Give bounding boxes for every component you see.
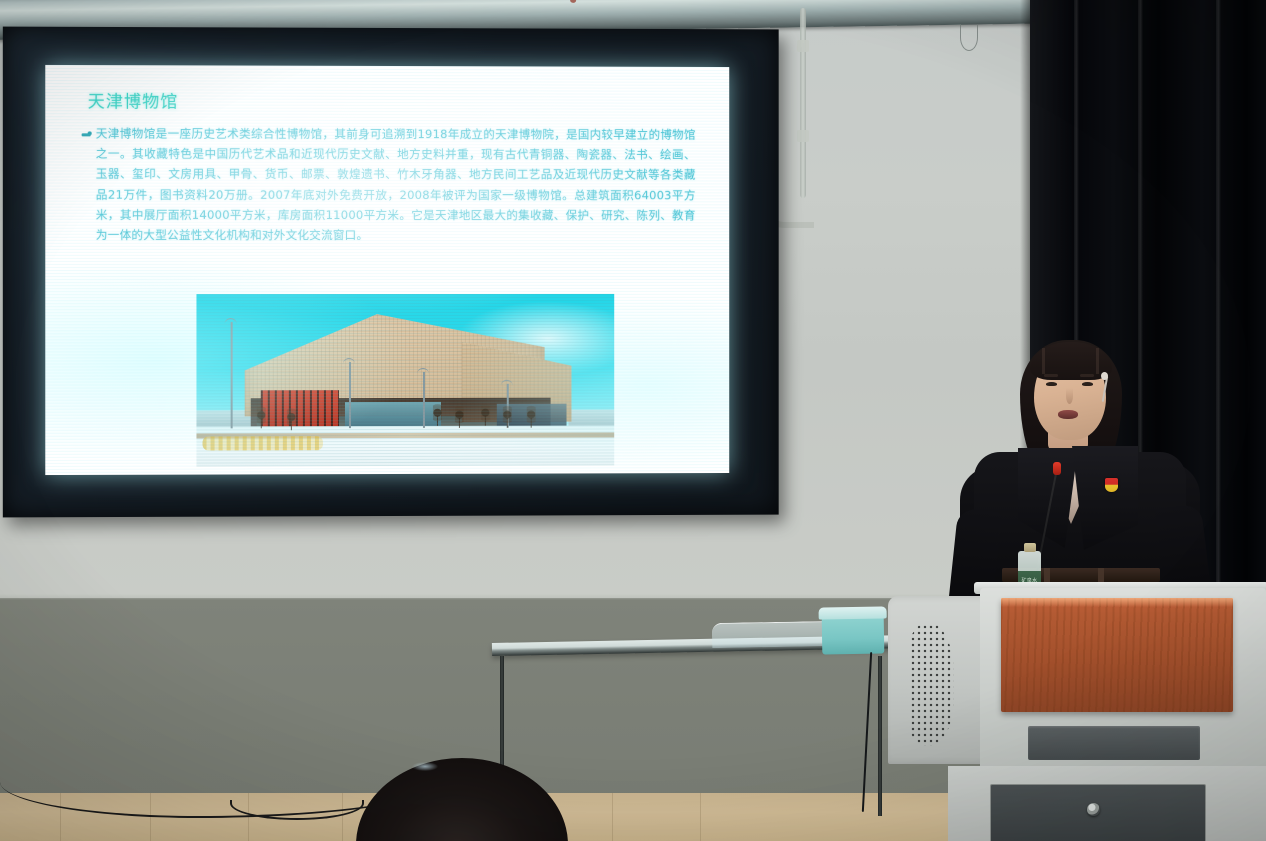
presenter-mouth: [1058, 410, 1078, 419]
side-table-leg-right: [878, 656, 882, 816]
teal-plastic-container: [822, 615, 885, 654]
conduit-coupler-upper: [797, 40, 809, 52]
lectern-cabinet[interactable]: [990, 784, 1206, 841]
dash-bullet-icon: [82, 133, 91, 136]
photo-dither-overlay: [196, 294, 614, 467]
lectern-podium[interactable]: [888, 588, 1266, 841]
teal-container-lid: [819, 606, 887, 619]
lectern-dark-strip: [1028, 726, 1200, 760]
wood-panel-highlight: [1001, 598, 1233, 607]
headset-microphone-earpiece: [1101, 372, 1108, 380]
slide-bullet-row: 天津博物馆是一座历史艺术类综合性博物馆，其前身可追溯到1918年成立的天津博物院…: [82, 123, 696, 245]
party-emblem-lapel-pin: [1105, 478, 1118, 492]
slide-body-text: 天津博物馆是一座历史艺术类综合性博物馆，其前身可追溯到1918年成立的天津博物院…: [82, 123, 696, 245]
belt-loop-right: [1098, 568, 1104, 582]
slide-body: 天津博物馆是一座历史艺术类综合性博物馆，其前身可追溯到1918年成立的天津博物院…: [82, 123, 696, 245]
lecture-hall-scene: 天津博物馆 天津博物馆是一座历史艺术类综合性博物馆，其前身可追溯到1918年成立…: [0, 0, 1266, 841]
speaker-grille: [910, 624, 954, 746]
presenter-nose: [1066, 388, 1073, 404]
clear-acrylic-sheet: [712, 621, 834, 648]
hair-strand-2: [1096, 348, 1099, 374]
presentation-slide: 天津博物馆 天津博物馆是一座历史艺术类综合性博物馆，其前身可追溯到1918年成立…: [45, 65, 729, 475]
slide-photo-tianjin-museum: [196, 294, 614, 467]
cabinet-lock-icon[interactable]: [1087, 803, 1100, 816]
belt-loop-left: [1044, 568, 1050, 582]
presenter-brow-left: [1044, 374, 1058, 377]
housing-rust-spot: [570, 0, 576, 3]
presenter-brow-right: [1080, 374, 1094, 377]
conduit-coupler-lower: [797, 130, 809, 142]
presenter-eye-right: [1082, 382, 1093, 386]
audience-hair-highlight: [412, 762, 438, 771]
lectern-left-wing: [888, 596, 992, 764]
wall-conduit-pipe: [800, 8, 806, 198]
screen-hanger-right: [960, 24, 978, 51]
gooseneck-microphone-head[interactable]: [1053, 462, 1061, 475]
projection-screen[interactable]: 天津博物馆 天津博物馆是一座历史艺术类综合性博物馆，其前身可追溯到1918年成立…: [3, 27, 779, 518]
water-bottle-cap: [1024, 543, 1036, 552]
lectern-wood-front-panel: [1001, 598, 1233, 712]
slide-title: 天津博物馆: [88, 87, 179, 112]
presenter-eye-left: [1046, 382, 1057, 386]
hair-strand-1: [1042, 348, 1045, 374]
